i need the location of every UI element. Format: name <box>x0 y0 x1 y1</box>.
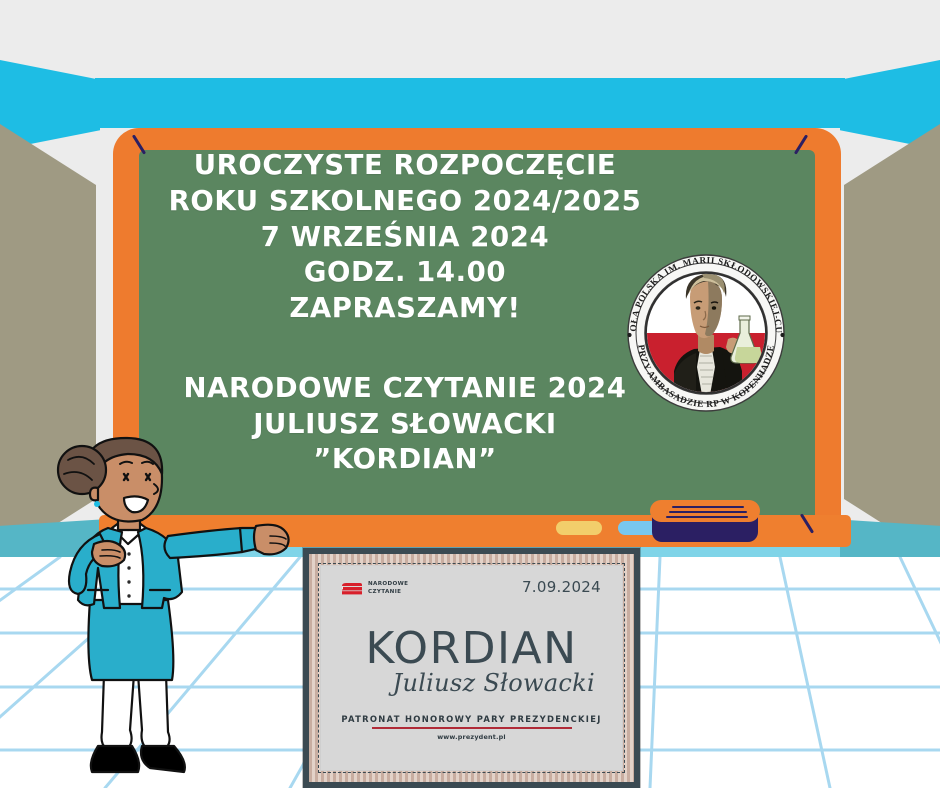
eraser-line-2 <box>669 511 747 513</box>
logo-line-2: CZYTANIE <box>368 589 408 597</box>
seal-separator-left <box>627 333 631 337</box>
poster-rule <box>372 727 572 729</box>
poster-patronage-block: PATRONAT HONOROWY PARY PREZYDENCKIEJ www… <box>320 714 623 741</box>
chalk-yellow[interactable] <box>556 521 602 535</box>
ceiling-trim-band <box>95 78 845 128</box>
side-wall-right <box>844 124 940 560</box>
school-seal: SZKOŁA POLSKA IM. MARII SKŁODOWSKIEJ-CUR… <box>616 243 796 423</box>
logo-line-1: NARODOWE <box>368 581 408 589</box>
book-icon <box>341 582 363 596</box>
eraser-line-3 <box>666 516 748 518</box>
poster-author: Juliusz Słowacki <box>393 669 595 697</box>
poster-sheet: NARODOWE CZYTANIE 7.09.2024 KORDIAN Juli… <box>320 565 623 771</box>
kordian-poster[interactable]: NARODOWE CZYTANIE 7.09.2024 KORDIAN Juli… <box>303 548 640 788</box>
announcement-block: UROCZYSTE ROZPOCZĘCIE ROKU SZKOLNEGO 202… <box>140 148 670 327</box>
blackboard-text: UROCZYSTE ROZPOCZĘCIE ROKU SZKOLNEGO 202… <box>140 148 670 478</box>
poster-canvas: UROCZYSTE ROZPOCZĘCIE ROKU SZKOLNEGO 202… <box>0 0 940 788</box>
eraser-line-1 <box>672 506 744 508</box>
poster-patronage: PATRONAT HONOROWY PARY PREZYDENCKIEJ <box>320 714 623 724</box>
announcement-line-1: UROCZYSTE ROZPOCZĘCIE <box>140 148 670 184</box>
reading-line-1: NARODOWE CZYTANIE 2024 <box>140 371 670 407</box>
announcement-line-4: GODZ. 14.00 <box>140 255 670 291</box>
announcement-line-5: ZAPRASZAMY! <box>140 291 670 327</box>
teacher-figure <box>42 432 294 788</box>
seal-separator-right <box>780 333 784 337</box>
poster-date: 7.09.2024 <box>522 578 601 596</box>
poster-mat: NARODOWE CZYTANIE 7.09.2024 KORDIAN Juli… <box>309 554 634 782</box>
narodowe-czytanie-logo: NARODOWE CZYTANIE <box>341 581 408 597</box>
poster-url: www.prezydent.pl <box>320 733 623 741</box>
announcement-line-2: ROKU SZKOLNEGO 2024/2025 <box>140 184 670 220</box>
board-eraser[interactable] <box>650 500 762 542</box>
announcement-line-3: 7 WRZEŚNIA 2024 <box>140 220 670 256</box>
poster-title: KORDIAN <box>320 627 623 671</box>
